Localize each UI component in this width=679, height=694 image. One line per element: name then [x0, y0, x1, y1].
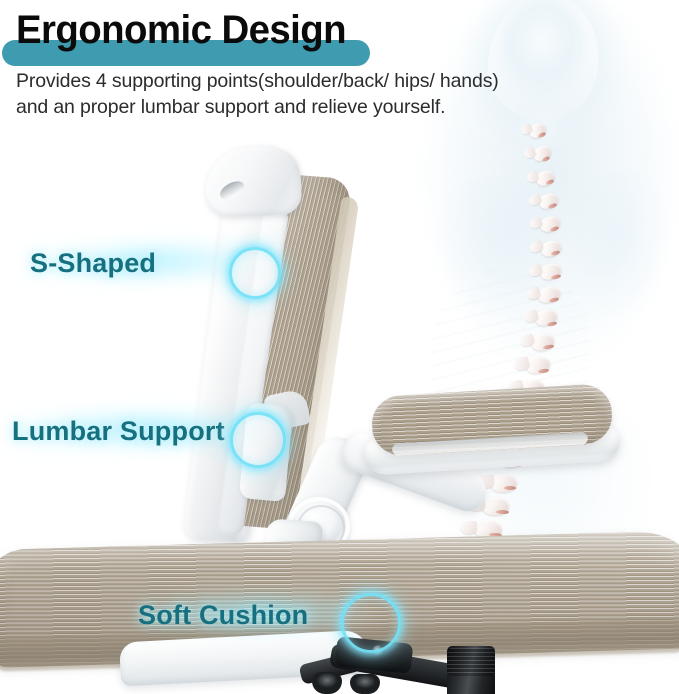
page-title: Ergonomic Design — [16, 6, 346, 54]
callout-label: Lumbar Support — [12, 416, 225, 447]
subtitle: Provides 4 supporting points(shoulder/ba… — [16, 68, 606, 120]
gas-cylinder-ribs — [447, 648, 495, 676]
callout-soft-cushion: Soft Cushion — [138, 600, 308, 631]
product-feature-image: S-Shaped Lumbar Support Soft Cushion Erg… — [0, 0, 679, 694]
subtitle-line: and an proper lumbar support and relieve… — [16, 94, 606, 120]
callout-s-shaped: S-Shaped — [30, 248, 156, 279]
callout-lumbar-support: Lumbar Support — [12, 416, 225, 447]
lumbar-support-block — [239, 402, 293, 502]
subtitle-line: Provides 4 supporting points(shoulder/ba… — [16, 68, 606, 94]
intervertebral-disc — [550, 226, 560, 233]
caster-wheel — [350, 674, 380, 694]
intervertebral-disc — [504, 486, 516, 490]
intervertebral-disc — [496, 510, 509, 514]
intervertebral-disc — [543, 344, 554, 350]
callout-label: Soft Cushion — [138, 600, 308, 631]
backrest-top-curve — [204, 144, 302, 217]
callout-label: S-Shaped — [30, 248, 156, 279]
base-screw — [372, 645, 385, 658]
intervertebral-disc — [549, 297, 560, 303]
caster-wheel — [312, 672, 342, 694]
spinous-process — [460, 521, 477, 534]
intervertebral-disc — [538, 132, 547, 139]
intervertebral-disc — [538, 368, 549, 374]
